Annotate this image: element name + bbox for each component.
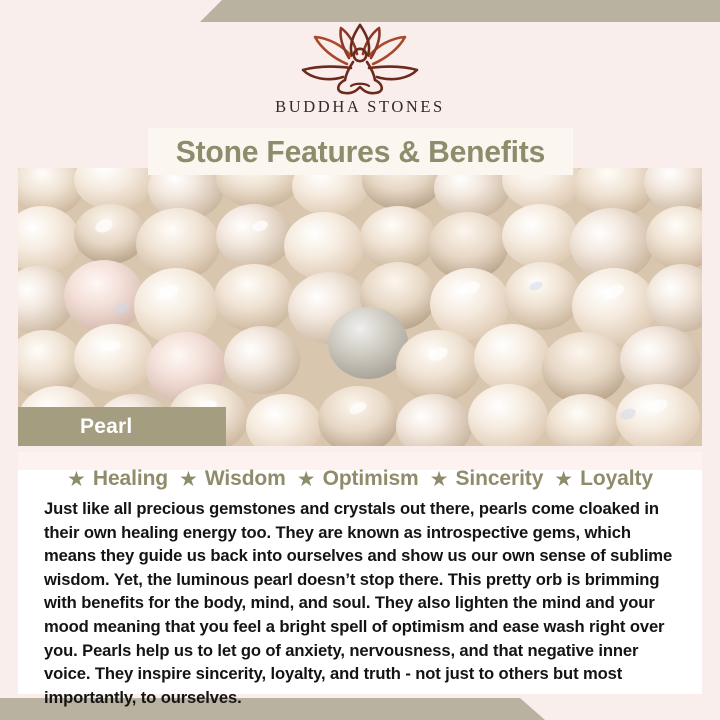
star-icon: ★ (179, 469, 198, 490)
benefit-label: Loyalty (580, 467, 653, 491)
benefit-label: Wisdom (205, 467, 286, 491)
benefit-item-loyalty: ★ Loyalty (543, 467, 653, 491)
benefit-label: Sincerity (455, 467, 543, 491)
stone-name-label: Pearl (18, 407, 226, 446)
content-panel: ★ Healing ★ Wisdom ★ Optimism ★ Sincerit… (18, 452, 702, 694)
top-accent-strip (0, 0, 720, 22)
star-icon: ★ (430, 469, 449, 490)
brand-logo: BUDDHA STONES (0, 22, 720, 126)
pearl-photo-graphic (18, 168, 702, 446)
benefit-item-healing: ★ Healing (67, 467, 168, 491)
star-icon: ★ (67, 469, 86, 490)
benefit-item-optimism: ★ Optimism (286, 467, 419, 491)
section-title-banner: Stone Features & Benefits (148, 128, 573, 175)
star-icon: ★ (554, 469, 573, 490)
benefit-item-wisdom: ★ Wisdom (168, 467, 286, 491)
benefit-item-sincerity: ★ Sincerity (419, 467, 544, 491)
stone-name-text: Pearl (18, 415, 132, 439)
page-title: Stone Features & Benefits (176, 134, 545, 170)
pearl-photo (18, 168, 702, 446)
brand-wordmark: BUDDHA STONES (275, 97, 445, 117)
lotus-meditation-icon (287, 22, 433, 96)
benefit-keywords: ★ Healing ★ Wisdom ★ Optimism ★ Sincerit… (18, 467, 702, 491)
benefit-label: Healing (93, 467, 168, 491)
stone-info-card: BUDDHA STONES Stone Features & Benefits (0, 0, 720, 720)
description-text: Just like all precious gemstones and cry… (44, 497, 678, 709)
benefit-label: Optimism (323, 467, 419, 491)
star-icon: ★ (297, 469, 316, 490)
